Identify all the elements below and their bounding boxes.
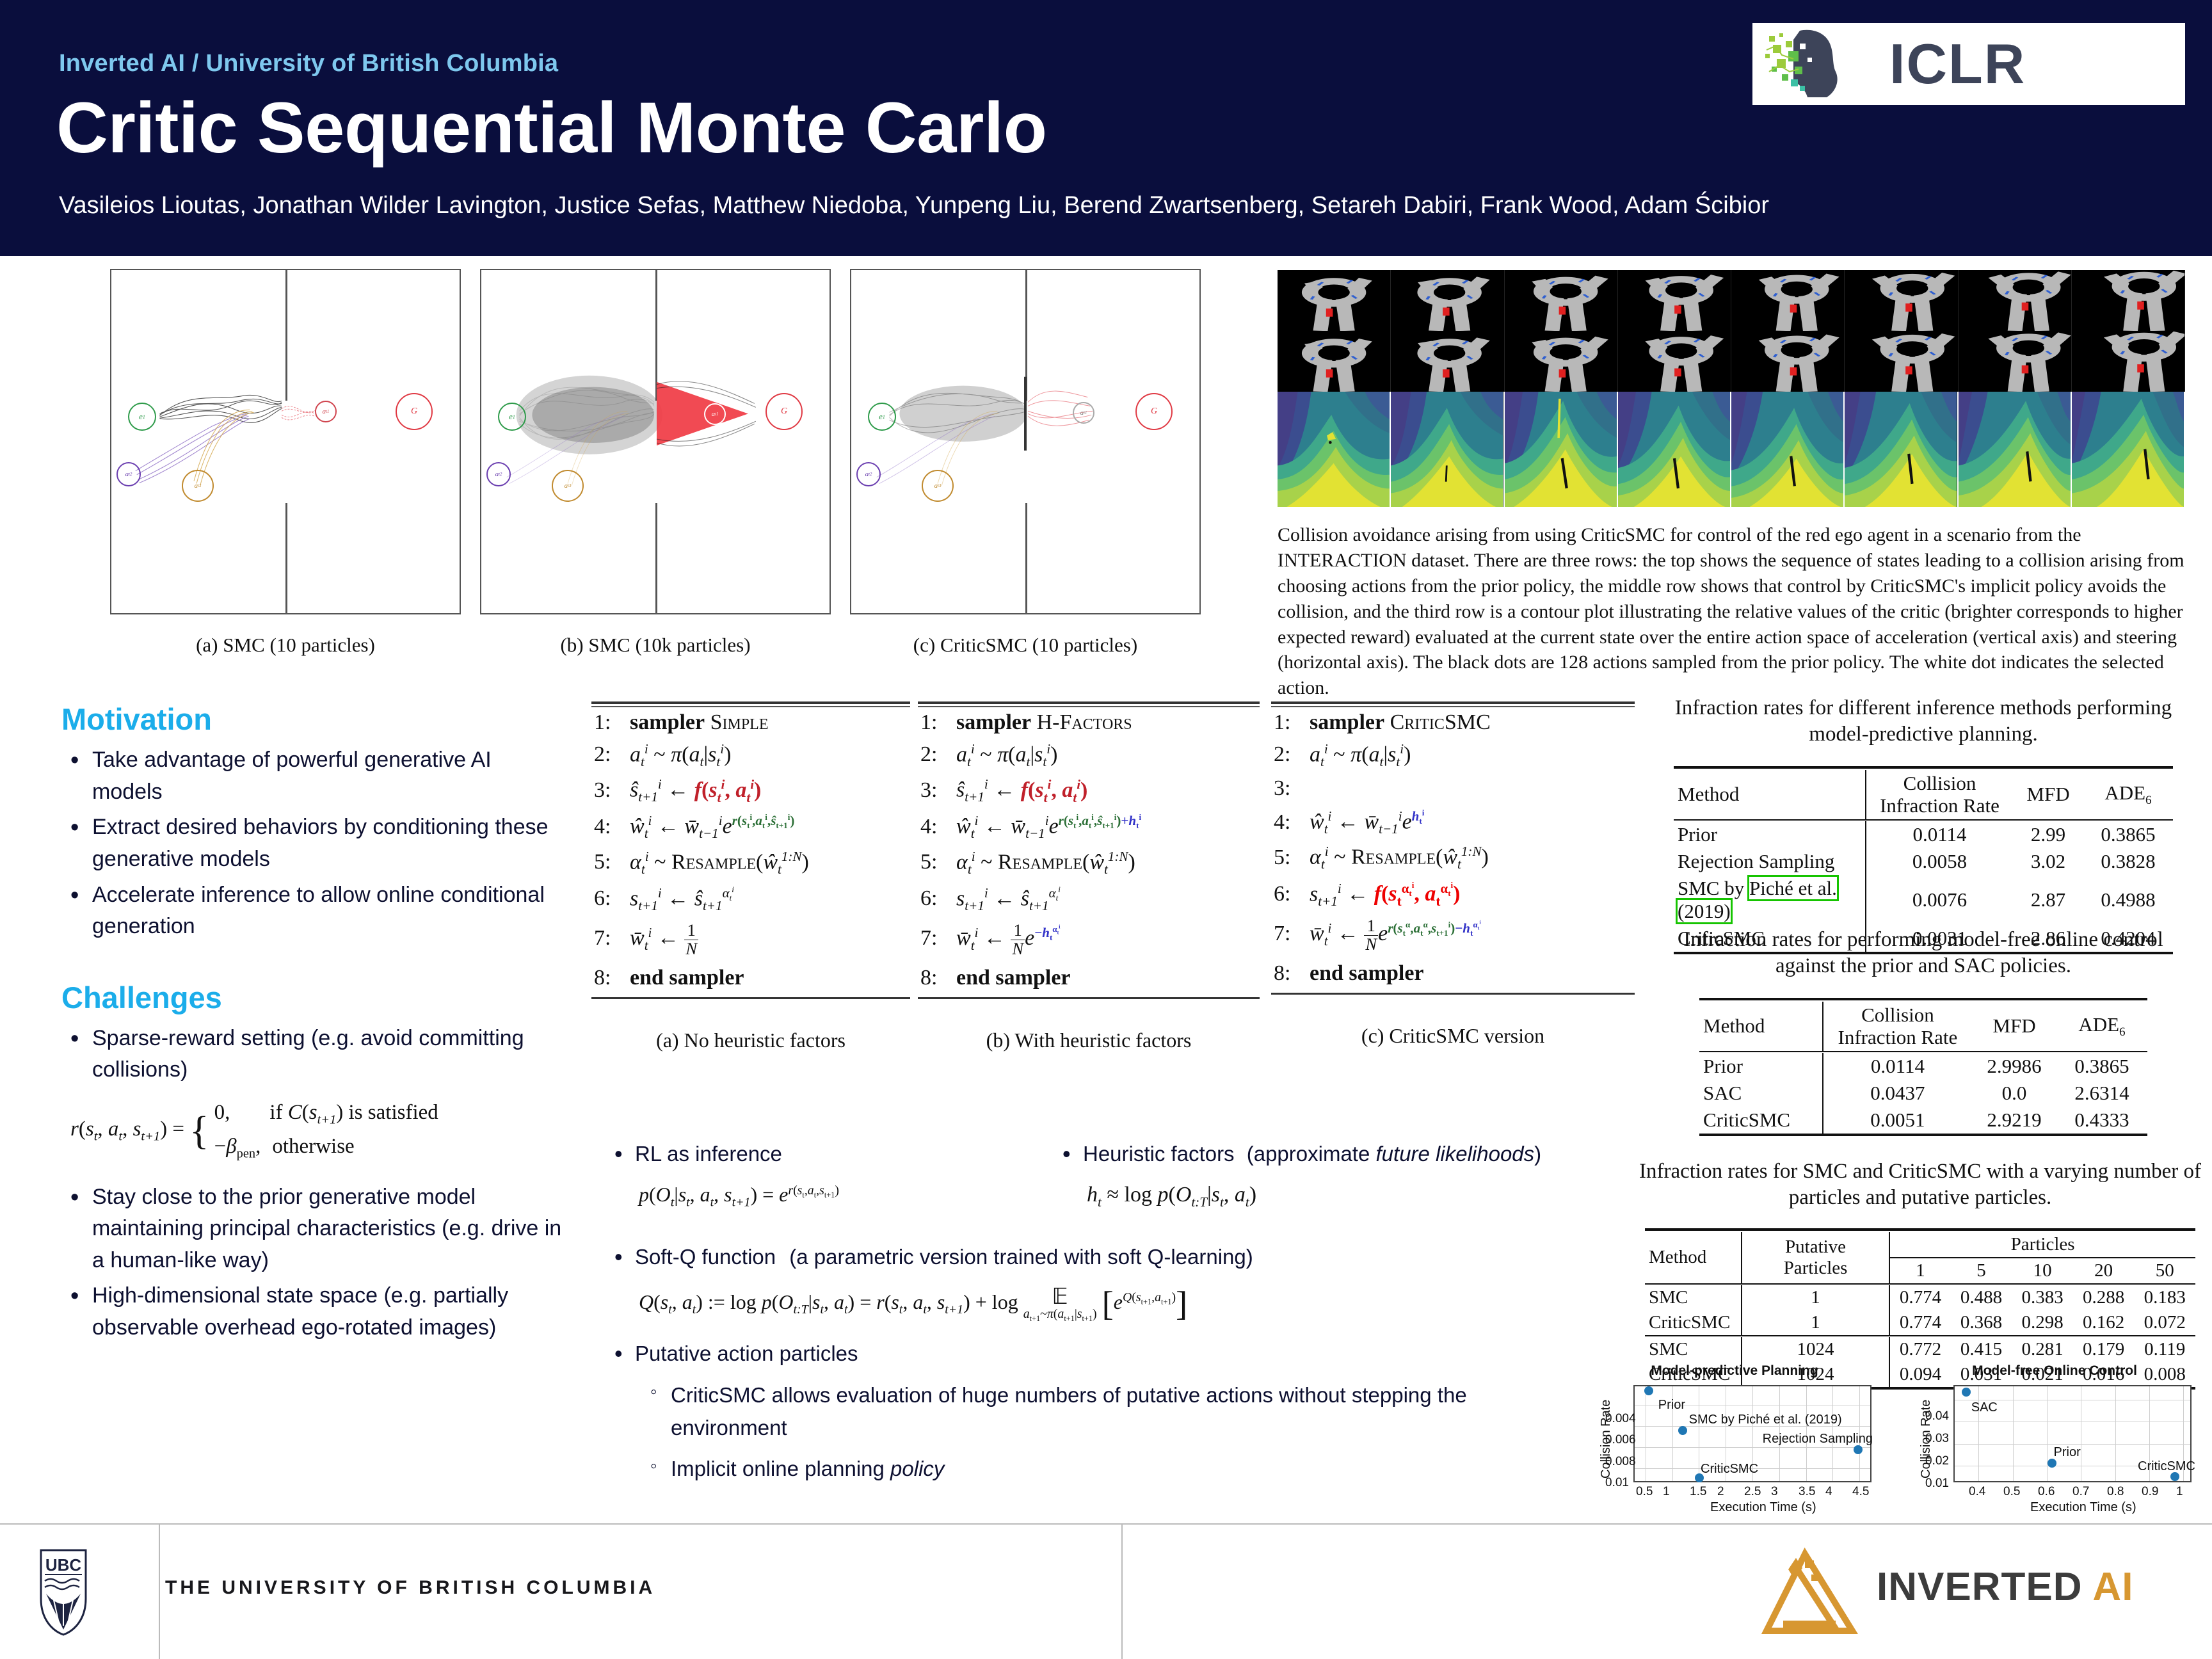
- rule: [1271, 701, 1635, 704]
- algo-line: 1:sampler Simple: [591, 707, 910, 738]
- list-item: Accelerate inference to allow online con…: [65, 879, 567, 943]
- roundabout-icon: [1505, 270, 1617, 331]
- critic-contour-plot: [1278, 392, 1391, 507]
- hf-paren-post: ): [1534, 1142, 1541, 1166]
- roundabout-icon: [1731, 331, 1844, 392]
- trajectory-plot-a: e1 at2 at3 at1 G: [110, 269, 461, 614]
- interaction-scenario-strip: [1278, 270, 2185, 507]
- algo-line: 2:ati ~ π(at|sti): [1271, 738, 1635, 773]
- roundabout-icon: [1278, 270, 1390, 331]
- scene-frame: [1278, 270, 1391, 331]
- x-axis-title: Execution Time (s): [2030, 1500, 2136, 1515]
- algo-line: 2:ati ~ π(at|sti): [591, 738, 910, 773]
- roundabout-icon: [1391, 331, 1503, 392]
- y-tick-label: 0.03: [1925, 1432, 1949, 1446]
- trajectory-paths-b: [481, 270, 829, 613]
- data-label: SMC by Piché et al. (2019): [1689, 1413, 1842, 1427]
- hf-label-text: Heuristic factors: [1083, 1142, 1235, 1166]
- x-axis-title: Execution Time (s): [1710, 1500, 1816, 1515]
- scene-frame: [1959, 331, 2072, 392]
- trajectory-plot-b: e1 at2 at3 at1 G: [480, 269, 831, 614]
- rule: [918, 701, 1260, 704]
- page-title: Critic Sequential Monte Carlo: [56, 86, 1046, 169]
- algo-line: 6:st+1i ← ŝt+1αti: [918, 881, 1260, 917]
- critic-contour-plot: [1505, 392, 1618, 507]
- roundabout-icon: [1391, 270, 1503, 331]
- x-tick-label: 1: [1663, 1485, 1670, 1499]
- chart-title: Model-free Online Control: [1907, 1363, 2202, 1379]
- x-tick-label: 2: [1717, 1485, 1724, 1499]
- roundabout-icon: [1278, 331, 1390, 392]
- middle-notes: RL as inference p(Ot|st, at, st+1) = er(…: [609, 1139, 1569, 1484]
- challenges-bullets-bottom: Stay close to the prior generative model…: [65, 1182, 567, 1344]
- list-item: Sparse-reward setting (e.g. avoid commit…: [65, 1023, 567, 1086]
- col-method: Method: [1674, 770, 1866, 820]
- x-tick-label: 0.5: [2003, 1485, 2020, 1499]
- table-row: SAC0.04370.02.6314: [1699, 1080, 2147, 1107]
- algo-line: 8:end sampler: [591, 963, 910, 993]
- left-column: Motivation Take advantage of powerful ge…: [61, 701, 567, 1348]
- inverted-ai-logo-icon: [1755, 1546, 1864, 1640]
- scene-frame: [1618, 331, 1731, 392]
- gridline: [1635, 1447, 1870, 1448]
- putative-label: Putative action particles: [609, 1339, 1569, 1368]
- agent-marker-a1: at1: [315, 401, 337, 422]
- rule: [918, 997, 1260, 999]
- list-item: Extract desired behaviors by conditionin…: [65, 812, 567, 875]
- trajectory-paths-c: [851, 270, 1199, 613]
- iclr-brain-icon: [1760, 27, 1875, 101]
- rule: [1271, 993, 1635, 995]
- agent-marker-e1: e1: [498, 403, 526, 431]
- rule: [591, 701, 910, 704]
- table-row: Prior0.01142.99860.3865: [1699, 1053, 2147, 1080]
- table-row: Prior0.01142.990.3865: [1674, 821, 2173, 848]
- algorithm-caption-b: (b) With heuristic factors: [918, 1029, 1260, 1052]
- putative-italic-policy: policy: [890, 1457, 944, 1480]
- trajectory-caption-a: (a) SMC (10 particles): [110, 634, 461, 657]
- critic-contour-plot: [1391, 392, 1504, 507]
- col-putative-particles: Putative Particles: [1742, 1232, 1889, 1284]
- contour-icon: [1391, 392, 1503, 507]
- algo-line: 7:w̄ti ← 1N: [591, 917, 910, 963]
- col-collision-rate: CollisionInfraction Rate: [1823, 1002, 1972, 1052]
- data-label: Rejection Sampling: [1763, 1432, 1873, 1447]
- agent-marker-e1: e1: [128, 403, 156, 431]
- list-item: High-dimensional state space (e.g. parti…: [65, 1280, 567, 1343]
- contour-icon: [1618, 392, 1730, 507]
- critic-contour-plot: [1731, 392, 1845, 507]
- col-p5: 5: [1951, 1258, 2012, 1284]
- algorithm-caption-c: (c) CriticSMC version: [1271, 1024, 1635, 1048]
- algo-line: 5:αti ~ Resample(ŵt1:N): [1271, 840, 1635, 876]
- table-row: SMC by Piché et al. (2019)0.00762.870.49…: [1674, 875, 2173, 925]
- iai-word-inverted: INVERTED: [1877, 1565, 2082, 1609]
- col-p20: 20: [2073, 1258, 2135, 1284]
- algo-line: 7:w̄ti ← 1Ner(stα,atα,st+1i)−htαti: [1271, 913, 1635, 958]
- list-item: Stay close to the prior generative model…: [65, 1182, 567, 1277]
- gridline: [1699, 1386, 1699, 1481]
- trajectory-caption-b: (b) SMC (10k particles): [480, 634, 831, 657]
- putative-sub-item: CriticSMC allows evaluation of huge numb…: [645, 1379, 1569, 1444]
- algorithm-box-a: 1:sampler Simple 2:ati ~ π(at|sti) 3:ŝt+…: [591, 701, 910, 1052]
- x-tick-label: 3.5: [1799, 1485, 1815, 1499]
- rule: [591, 997, 910, 999]
- scene-frame: [1845, 270, 1958, 331]
- scene-frame: [1959, 270, 2072, 331]
- citation-highlight[interactable]: Piché et al.: [1749, 877, 1837, 899]
- x-tick-label: 0.4: [1969, 1485, 1985, 1499]
- trajectory-figure-b: e1 at2 at3 at1 G (b) SMC (10k particles): [480, 269, 831, 657]
- motivation-bullets: Take advantage of powerful generative AI…: [65, 744, 567, 943]
- gridline: [2081, 1386, 2081, 1481]
- data-point-sac: [1962, 1388, 1971, 1397]
- algo-line: 1:sampler H-Factors: [918, 707, 1260, 738]
- roundabout-icon: [1959, 270, 2071, 331]
- soft-q-equation: Q(st, at) := log p(Ot:T|st, at) = r(st, …: [639, 1286, 1569, 1322]
- strip-caption: Collision avoidance arising from using C…: [1278, 522, 2186, 701]
- algo-line: 8:end sampler: [1271, 958, 1635, 989]
- table-header-row: Method CollisionInfraction Rate MFD ADE6: [1674, 770, 2173, 820]
- y-tick-label: 0.006: [1605, 1433, 1636, 1447]
- data-label: CriticSMC: [1701, 1462, 1758, 1477]
- hf-italic: future likelihoods: [1376, 1142, 1535, 1166]
- gridline: [1955, 1422, 2190, 1422]
- algo-line: 2:ati ~ π(at|sti): [918, 738, 1260, 773]
- algo-line: 5:αti ~ Resample(ŵt1:N): [918, 846, 1260, 881]
- col-p50: 50: [2134, 1258, 2195, 1284]
- strip-row-critic-contour: [1278, 392, 2185, 507]
- infraction-table-mfoc: Method CollisionInfraction Rate MFD ADE6…: [1699, 998, 2147, 1137]
- roundabout-icon: [1959, 331, 2071, 392]
- x-tick-label: 4: [1825, 1485, 1832, 1499]
- y-tick-label: 0.008: [1605, 1455, 1636, 1469]
- citation-year-highlight[interactable]: (2019): [1678, 900, 1731, 922]
- author-list: Vasileios Lioutas, Jonathan Wilder Lavin…: [59, 192, 1769, 220]
- iclr-wordmark: ICLR: [1889, 31, 2026, 97]
- reward-equation: r(st, at, st+1) = { 0,if C(st+1) is sati…: [70, 1096, 567, 1165]
- col-p10: 10: [2012, 1258, 2073, 1284]
- table-title: Infraction rates for performing model-fr…: [1664, 927, 2183, 980]
- y-tick-label: 0.04: [1925, 1409, 1949, 1423]
- gridline: [2047, 1386, 2048, 1481]
- iai-word-ai: AI: [2092, 1565, 2133, 1609]
- gridline: [1955, 1444, 2190, 1445]
- algo-line: 5:αti ~ Resample(ŵt1:N): [591, 846, 910, 881]
- agent-marker-e1: e1: [868, 403, 896, 431]
- x-tick-label: 0.5: [1636, 1485, 1653, 1499]
- algo-line: 7:w̄ti ← 1Ne−htαti: [918, 917, 1260, 963]
- contour-icon: [1278, 392, 1390, 507]
- critic-contour-plot: [2072, 392, 2185, 507]
- table-block-mpp: Infraction rates for different inference…: [1664, 695, 2183, 956]
- col-mfd: MFD: [2013, 770, 2083, 820]
- col-collision-rate: CollisionInfraction Rate: [1866, 770, 2013, 820]
- data-label: SAC: [1971, 1400, 1998, 1415]
- algorithm-box-b: 1:sampler H-Factors 2:ati ~ π(at|sti) 3:…: [918, 701, 1260, 1052]
- footer-divider: [1121, 1525, 1123, 1659]
- table-block-particles: Infraction rates for SMC and CriticSMC w…: [1639, 1158, 2202, 1391]
- col-mfd: MFD: [1972, 1002, 2056, 1052]
- iclr-logo: ICLR: [1752, 23, 2185, 105]
- contour-icon: [1731, 392, 1843, 507]
- ubc-wordmark: THE UNIVERSITY OF BRITISH COLUMBIA: [165, 1577, 655, 1599]
- plot-area: SAC Prior CriticSMC: [1953, 1385, 2192, 1482]
- scene-frame: [2072, 331, 2185, 392]
- gridline: [2013, 1386, 2014, 1481]
- agent-marker-a3: at3: [922, 470, 954, 502]
- col-group-particles: Particles: [1889, 1232, 2195, 1258]
- poster-footer: UBC THE UNIVERSITY OF BRITISH COLUMBIA I…: [0, 1523, 2212, 1659]
- plot-area: Prior SMC by Piché et al. (2019) Rejecti…: [1633, 1385, 1871, 1482]
- table-row: SMC10.7740.4880.3830.2880.183: [1645, 1285, 2195, 1310]
- putative-sub-item: Implicit online planning policy: [645, 1454, 1569, 1484]
- agent-marker-a3: at3: [182, 470, 214, 502]
- trajectory-caption-c: (c) CriticSMC (10 particles): [850, 634, 1201, 657]
- col-p1: 1: [1889, 1258, 1951, 1284]
- agent-marker-a1: at1: [1073, 402, 1094, 424]
- critic-contour-plot: [1618, 392, 1731, 507]
- agent-marker-a1: at1: [704, 403, 726, 425]
- algo-line: 3:ŝt+1i ← f(sti, ati): [918, 773, 1260, 808]
- scene-frame: [1278, 331, 1391, 392]
- contour-icon: [2072, 392, 2184, 507]
- table-row: Rejection Sampling0.00583.020.3828: [1674, 848, 2173, 875]
- roundabout-icon: [1845, 331, 1957, 392]
- table-block-mfoc: Infraction rates for performing model-fr…: [1664, 927, 2183, 1137]
- chart-title: Model-predictive Planning: [1587, 1363, 1882, 1379]
- agent-marker-goal: G: [396, 393, 433, 430]
- contour-icon: [1845, 392, 1957, 507]
- poster-header: Inverted AI / University of British Colu…: [0, 0, 2212, 256]
- x-tick-label: 0.8: [2107, 1485, 2124, 1499]
- contour-icon: [1505, 392, 1617, 507]
- x-tick-label: 1: [2176, 1485, 2183, 1499]
- critic-contour-plot: [1845, 392, 1958, 507]
- rl-as-inference-label: RL as inference: [609, 1139, 1019, 1169]
- agent-marker-a3: at3: [552, 470, 584, 502]
- table-rule: [1699, 1135, 2147, 1137]
- data-point-prior: [2048, 1459, 2056, 1468]
- roundabout-icon: [1845, 270, 1957, 331]
- trajectory-figure-a: e1 at2 at3 at1 G (a) SMC (10 particles): [110, 269, 461, 657]
- scene-frame: [1505, 270, 1618, 331]
- table-row: CriticSMC10.7740.3680.2980.1620.072: [1645, 1310, 2195, 1336]
- gridline: [2115, 1386, 2116, 1481]
- algo-line: 4:ŵti ← w̄t−1ier(sti,ati,ŝt+1i): [591, 808, 910, 845]
- soft-q-label: Soft-Q function (a parametric version tr…: [609, 1242, 1569, 1272]
- agent-marker-a2: at2: [486, 462, 511, 486]
- algorithm-box-c: 1:sampler CriticSMC 2:ati ~ π(at|sti) 3:…: [1271, 701, 1635, 1048]
- agent-marker-a2: at2: [856, 462, 881, 486]
- agent-marker-goal: G: [765, 393, 803, 430]
- contour-icon: [1959, 392, 2071, 507]
- col-method: Method: [1699, 1002, 1823, 1052]
- table-title: Infraction rates for SMC and CriticSMC w…: [1639, 1158, 2202, 1212]
- scene-frame: [1618, 270, 1731, 331]
- algo-line: 3:: [1271, 773, 1635, 804]
- algo-line: 6:st+1i ← f(stαti, atαti): [1271, 876, 1635, 913]
- soft-q-paren: (a parametric version trained with soft …: [789, 1245, 1253, 1269]
- list-item: Take advantage of powerful generative AI…: [65, 744, 567, 808]
- x-tick-label: 0.7: [2072, 1485, 2089, 1499]
- algo-line: 6:st+1i ← ŝt+1αti: [591, 881, 910, 917]
- x-tick-label: 4.5: [1852, 1485, 1869, 1499]
- table-row: SMC10240.7720.4150.2810.1790.119: [1645, 1337, 2195, 1362]
- trajectory-plot-c: e1 at2 at3 at1 G: [850, 269, 1201, 614]
- x-tick-label: 0.9: [2142, 1485, 2158, 1499]
- col-ade: ADE6: [2083, 770, 2173, 820]
- scene-frame: [1391, 270, 1504, 331]
- strip-row-prior-collision: [1278, 270, 2185, 331]
- rl-as-inference-equation: p(Ot|st, at, st+1) = er(st,at,st+1): [639, 1183, 1019, 1210]
- cell-smc-piche: SMC by Piché et al. (2019): [1674, 875, 1866, 925]
- data-label: Prior: [1658, 1398, 1685, 1413]
- roundabout-icon: [1618, 331, 1731, 392]
- y-tick-label: 0.01: [1605, 1476, 1629, 1490]
- chart-model-predictive-planning: Model-predictive Planning Prior SMC by P…: [1587, 1363, 1882, 1523]
- heuristic-factor-equation: ht ≈ log p(Ot:T|st, at): [1087, 1183, 1569, 1210]
- challenges-bullets-top: Sparse-reward setting (e.g. avoid commit…: [65, 1023, 567, 1086]
- y-tick-label: 0.01: [1925, 1477, 1949, 1491]
- scene-frame: [1505, 331, 1618, 392]
- ubc-crest-icon: UBC: [37, 1548, 90, 1637]
- motivation-heading: Motivation: [61, 701, 567, 737]
- gridline: [1646, 1386, 1646, 1481]
- data-point-smc-piche: [1678, 1426, 1687, 1435]
- scene-frame: [1731, 270, 1845, 331]
- x-tick-label: 0.6: [2038, 1485, 2055, 1499]
- x-tick-label: 2.5: [1744, 1485, 1761, 1499]
- data-label: CriticSMC: [2138, 1459, 2195, 1474]
- agent-marker-goal: G: [1135, 393, 1173, 430]
- y-tick-label: 0.004: [1605, 1412, 1636, 1426]
- roundabout-icon: [1618, 270, 1731, 331]
- soft-q-label-text: Soft-Q function: [635, 1245, 776, 1269]
- y-tick-label: 0.02: [1925, 1454, 1949, 1468]
- svg-text:UBC: UBC: [45, 1555, 82, 1575]
- data-label: Prior: [2054, 1445, 2081, 1460]
- table-row: CriticSMC0.00512.92190.4333: [1699, 1107, 2147, 1135]
- algo-line: 1:sampler CriticSMC: [1271, 707, 1635, 738]
- algo-line: 4:ŵti ← w̄t−1iehti: [1271, 804, 1635, 840]
- scene-frame: [2072, 270, 2185, 331]
- col-method: Method: [1645, 1232, 1742, 1284]
- challenges-heading: Challenges: [61, 980, 567, 1015]
- algorithm-caption-a: (a) No heuristic factors: [591, 1029, 910, 1052]
- table-header-row: Method CollisionInfraction Rate MFD ADE6: [1699, 1002, 2147, 1052]
- footer-divider: [159, 1525, 160, 1659]
- scene-frame: [1391, 331, 1504, 392]
- chart-model-free-online-control: Model-free Online Control SAC Prior Crit…: [1907, 1363, 2202, 1523]
- strip-row-criticsmc-avoidance: [1278, 331, 2185, 392]
- algo-line: 4:ŵti ← w̄t−1ier(sti,ati,ŝt+1i)+hti: [918, 808, 1260, 845]
- algo-line: 8:end sampler: [918, 963, 1260, 993]
- roundabout-icon: [2072, 331, 2184, 392]
- inverted-ai-wordmark: INVERTED AI: [1877, 1564, 2133, 1610]
- critic-contour-plot: [1959, 392, 2072, 507]
- affiliation-line: Inverted AI / University of British Colu…: [59, 50, 558, 77]
- data-point-prior: [1644, 1386, 1653, 1395]
- table-header-row-top: Method Putative Particles Particles: [1645, 1232, 2195, 1258]
- roundabout-icon: [1731, 270, 1844, 331]
- algo-line: 3:ŝt+1i ← f(sti, ati): [591, 773, 910, 808]
- heuristic-factors-label: Heuristic factors (approximate future li…: [1057, 1139, 1569, 1169]
- x-tick-label: 3: [1771, 1485, 1778, 1499]
- roundabout-icon: [1505, 331, 1617, 392]
- trajectory-figure-c: e1 at2 at3 at1 G (c) CriticSMC (10 parti…: [850, 269, 1201, 657]
- roundabout-icon: [2072, 270, 2184, 331]
- agent-marker-a2: at2: [116, 462, 141, 486]
- hf-paren-pre: (approximate: [1247, 1142, 1376, 1166]
- x-tick-label: 1.5: [1690, 1485, 1706, 1499]
- trajectory-paths-a: [111, 270, 460, 613]
- table-title: Infraction rates for different inference…: [1664, 695, 2183, 748]
- scene-frame: [1731, 331, 1845, 392]
- col-ade: ADE6: [2056, 1002, 2147, 1052]
- scene-frame: [1845, 331, 1958, 392]
